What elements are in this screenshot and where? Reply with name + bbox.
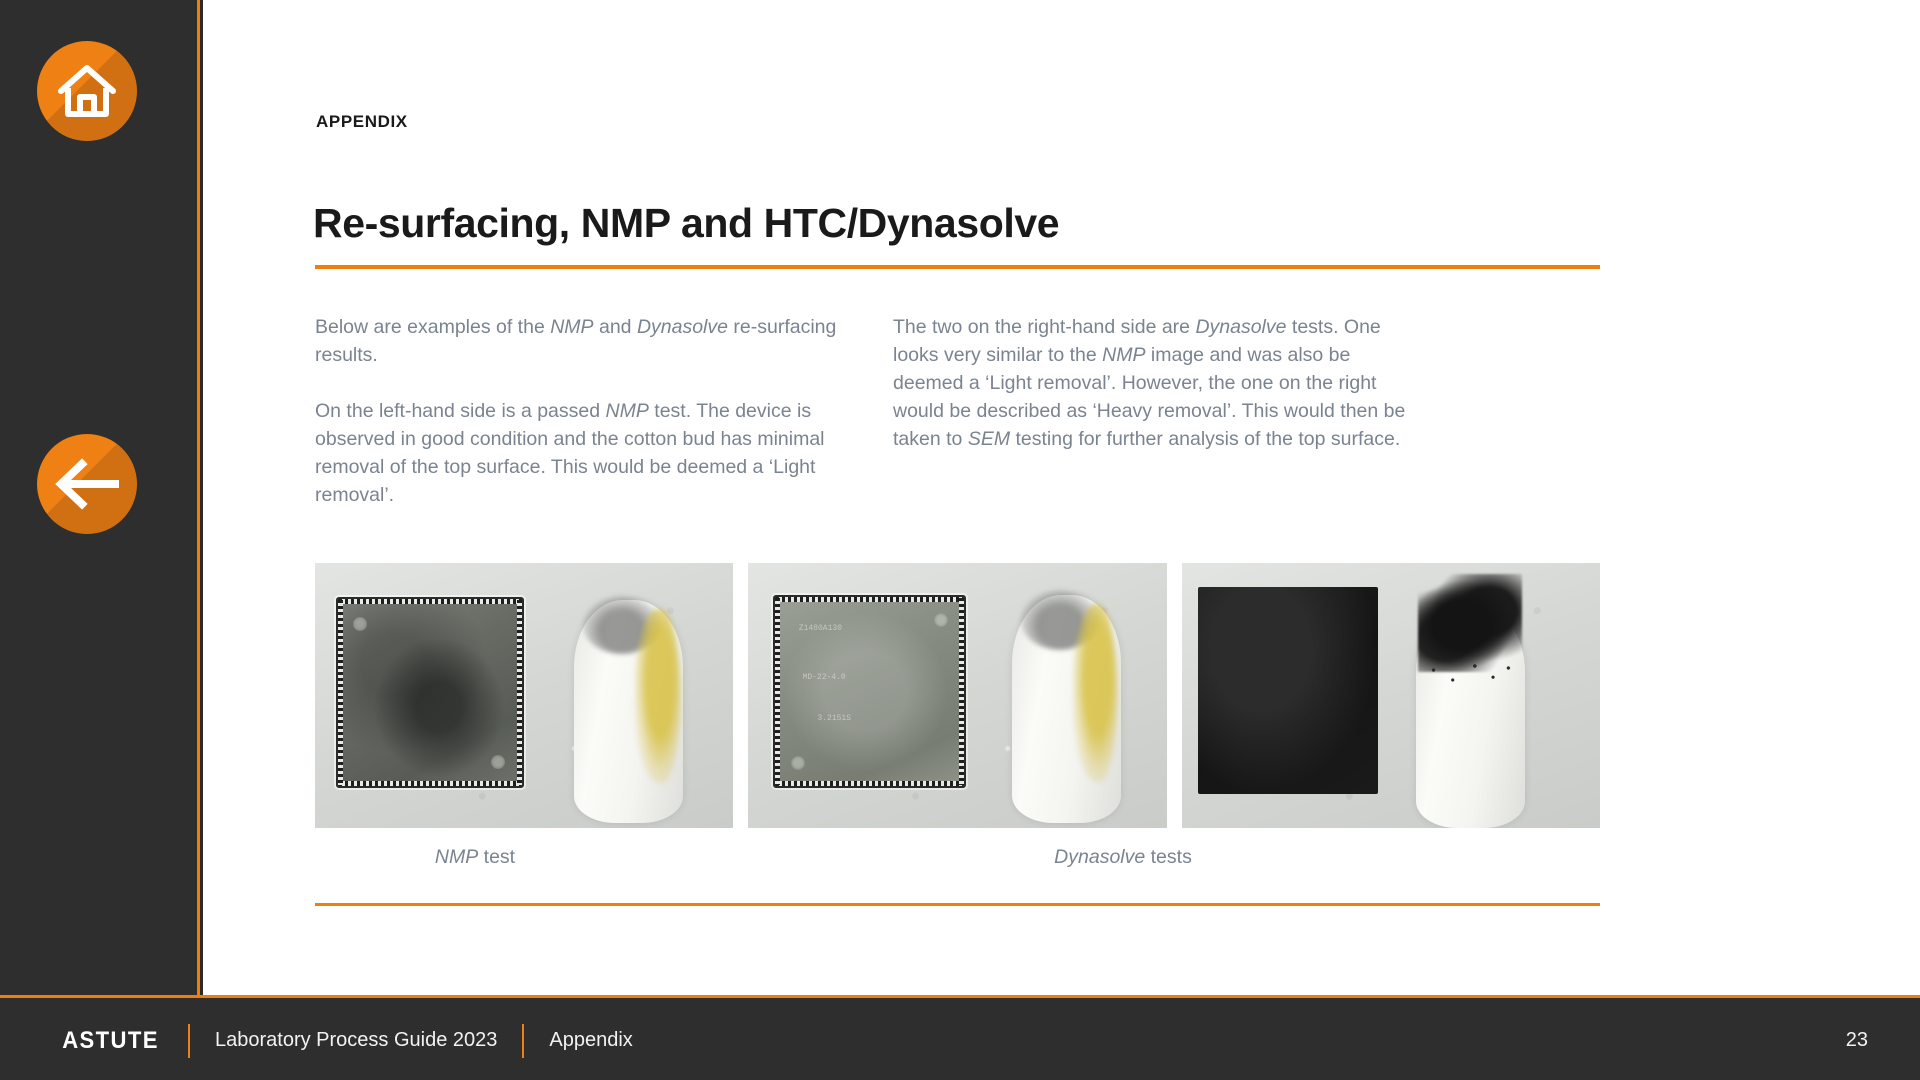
chip-corner-dimple	[491, 755, 505, 769]
slide-eyebrow: APPENDIX	[316, 112, 408, 132]
footer-left-group: ASTUTE Laboratory Process Guide 2023 App…	[58, 998, 633, 1080]
photo-nmp	[315, 563, 733, 828]
text-run: Below are examples of the	[315, 316, 550, 338]
cotton-bud-dynasolve-heavy	[1416, 605, 1525, 828]
chip-pins-bottom	[776, 781, 962, 786]
chip-marking-line3: 3.2151S	[817, 714, 851, 723]
astute-logo: ASTUTE	[62, 1027, 159, 1055]
para-3: The two on the right-hand side are Dynas…	[893, 313, 1413, 453]
slide-content: APPENDIX Re-surfacing, NMP and HTC/Dynas…	[203, 0, 1920, 995]
home-icon	[37, 41, 137, 141]
emphasis-term: NMP	[606, 400, 649, 422]
page-number: 23	[1846, 998, 1868, 1080]
footer-section-name: Appendix	[549, 1029, 632, 1052]
prev-slide-button[interactable]	[37, 434, 137, 534]
title-rule	[315, 265, 1600, 269]
para-2: On the left-hand side is a passed NMP te…	[315, 397, 860, 509]
caption-dynasolve: Dynasolve tests	[963, 846, 1283, 869]
chip-marking-line1: Z1480A130	[799, 624, 842, 633]
chip-pins-top	[776, 597, 962, 602]
photo-dynasolve-heavy	[1182, 563, 1600, 828]
emphasis-term: NMP	[1102, 344, 1145, 366]
footer-document-title: Laboratory Process Guide 2023	[215, 1029, 497, 1052]
chip-pins-bottom	[339, 781, 521, 786]
page-title: Re-surfacing, NMP and HTC/Dynasolve	[313, 200, 1059, 247]
cotton-bud-yellow-stain	[1073, 604, 1119, 782]
text-run: and	[594, 316, 637, 338]
bottom-rule	[315, 903, 1600, 906]
footer-divider-2	[522, 1024, 524, 1058]
home-button[interactable]	[37, 41, 137, 141]
text-run: test	[478, 846, 515, 868]
emphasis-term: NMP	[550, 316, 593, 338]
emphasis-term: NMP	[435, 846, 478, 868]
cotton-bud-dynasolve-light	[1012, 595, 1121, 823]
caption-nmp: NMP test	[315, 846, 635, 869]
chip-pins-left	[775, 598, 780, 785]
chip-pins-top	[339, 599, 521, 604]
arrow-left-icon	[37, 434, 137, 534]
chip-pins-right	[959, 598, 964, 785]
cotton-bud-nmp	[574, 600, 683, 823]
chip-corner-dimple	[791, 756, 805, 770]
para-1: Below are examples of the NMP and Dynaso…	[315, 313, 860, 369]
cotton-bud-yellow-stain	[635, 609, 681, 783]
chip-marking-line2: MD-22-4.0	[803, 673, 846, 682]
text-run: testing for further analysis of the top …	[1010, 428, 1400, 450]
footer-divider-1	[188, 1024, 190, 1058]
body-column-right: The two on the right-hand side are Dynas…	[893, 313, 1413, 453]
chip-package-nmp	[336, 597, 524, 788]
text-run: tests	[1145, 846, 1192, 868]
chip-package-dynasolve-heavy	[1198, 587, 1378, 794]
text-run: On the left-hand side is a passed	[315, 400, 606, 422]
emphasis-term: SEM	[968, 428, 1010, 450]
chip-pins-right	[517, 600, 522, 785]
photo-dynasolve-light: Z1480A130 MD-22-4.0 3.2151S	[748, 563, 1166, 828]
body-column-left: Below are examples of the NMP and Dynaso…	[315, 313, 860, 509]
emphasis-term: Dynasolve	[1054, 846, 1145, 868]
photo-strip: Z1480A130 MD-22-4.0 3.2151S	[315, 563, 1600, 828]
chip-package-dynasolve-light: Z1480A130 MD-22-4.0 3.2151S	[773, 595, 965, 788]
cotton-bud-speckle	[1422, 654, 1518, 694]
emphasis-term: Dynasolve	[1195, 316, 1286, 338]
chip-pins-left	[338, 600, 343, 785]
chip-pin1-dimple	[353, 617, 367, 631]
text-run: The two on the right-hand side are	[893, 316, 1195, 338]
emphasis-term: Dynasolve	[637, 316, 728, 338]
chip-pin1-dimple	[934, 613, 948, 627]
footer-bar: ASTUTE Laboratory Process Guide 2023 App…	[0, 995, 1920, 1080]
